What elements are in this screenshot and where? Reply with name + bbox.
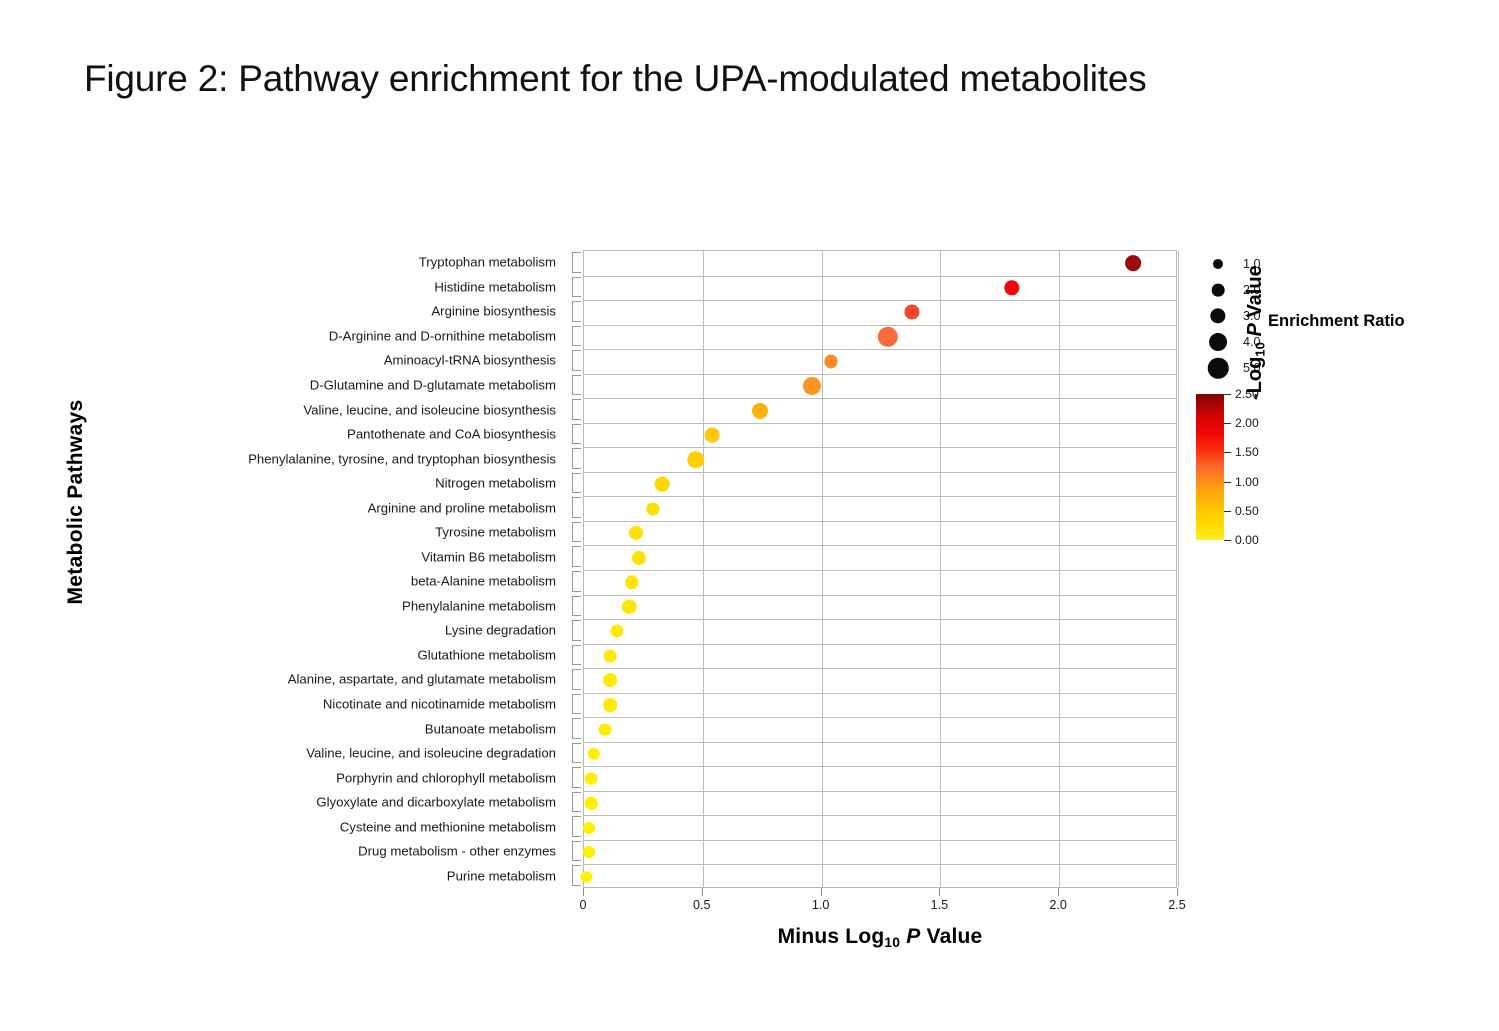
y-axis-tick-bracket (572, 375, 581, 396)
data-point-bubble (803, 377, 821, 395)
data-point-bubble (585, 772, 598, 785)
size-legend-dot (1212, 284, 1225, 297)
data-point-bubble (629, 526, 643, 540)
enrichment-ratio-legend-title: Enrichment Ratio (1268, 312, 1405, 331)
data-point-bubble (625, 576, 638, 589)
y-axis-tick-label: Lysine degradation (445, 623, 556, 638)
data-point-bubble (583, 846, 595, 858)
colorbar-title-subscript: 10 (1253, 342, 1268, 357)
colorbar-tick (1224, 511, 1231, 512)
size-legend-dot (1209, 333, 1227, 351)
colorbar-tick-label: 1.50 (1235, 445, 1259, 459)
x-axis: 00.51.01.52.02.5 (583, 888, 1177, 928)
y-axis-tick-bracket (572, 743, 581, 764)
page-title: Figure 2: Pathway enrichment for the UPA… (84, 58, 1147, 100)
y-axis-tick-bracket (572, 694, 581, 715)
y-axis-tick-label: Drug metabolism - other enzymes (358, 844, 556, 859)
y-axis-tick-bracket (572, 252, 581, 273)
gridline-horizontal (584, 521, 1176, 522)
y-axis-tick-bracket (572, 301, 581, 322)
data-point-bubble (611, 625, 624, 638)
y-axis-tick-bracket (572, 448, 581, 469)
x-axis-tick (1177, 888, 1178, 896)
gridline-horizontal (584, 644, 1176, 645)
y-axis-tick-label: Nicotinate and nicotinamide metabolism (323, 696, 556, 711)
gridline-vertical (1059, 251, 1060, 887)
data-point-bubble (1125, 255, 1141, 271)
data-point-bubble (1004, 280, 1019, 295)
data-point-bubble (599, 723, 612, 736)
data-point-bubble (646, 502, 659, 515)
data-point-bubble (587, 748, 599, 760)
x-axis-tick (939, 888, 940, 896)
colorbar-tick-label: 0.50 (1235, 504, 1259, 518)
y-axis-tick-label: Histidine metabolism (434, 279, 556, 294)
x-axis-tick (583, 888, 584, 896)
y-axis-tick-label: Glutathione metabolism (417, 647, 556, 662)
y-axis-tick-bracket (572, 865, 581, 886)
gridline-horizontal (584, 545, 1176, 546)
data-point-bubble (604, 649, 617, 662)
x-axis-title-italic: P (906, 925, 920, 948)
colorbar-title: -Log10 P Value (1244, 250, 1268, 400)
y-axis-tick-label: Alanine, aspartate, and glutamate metabo… (288, 672, 556, 687)
colorbar-title-suffix: Value (1244, 265, 1266, 323)
gridline-horizontal (584, 496, 1176, 497)
gridline-horizontal (584, 791, 1176, 792)
colorbar-tick (1224, 423, 1231, 424)
gridline-horizontal (584, 595, 1176, 596)
data-point-bubble (687, 451, 704, 468)
y-axis-tick-label: D-Arginine and D-ornithine metabolism (329, 328, 556, 343)
gridline-horizontal (584, 742, 1176, 743)
x-axis-tick (821, 888, 822, 896)
gridline-horizontal (584, 423, 1176, 424)
colorbar-title-italic: P (1244, 323, 1266, 336)
x-axis-tick-label: 0 (579, 898, 586, 912)
x-axis-tick-label: 2.0 (1049, 898, 1067, 912)
data-point-bubble (705, 428, 720, 443)
y-axis-tick-bracket (572, 620, 581, 641)
x-axis-tick-label: 1.5 (931, 898, 949, 912)
y-axis-tick-label: Phenylalanine, tyrosine, and tryptophan … (248, 451, 556, 466)
data-point-bubble (585, 797, 597, 809)
x-axis-title-subscript: 10 (884, 934, 900, 950)
y-axis-tick-bracket (572, 718, 581, 739)
y-axis-tick-bracket (572, 767, 581, 788)
colorbar-tick-label: 2.00 (1235, 416, 1259, 430)
gridline-horizontal (584, 398, 1176, 399)
colorbar-tick-label: 0.00 (1235, 533, 1259, 547)
y-axis-tick-label: Aminoacyl-tRNA biosynthesis (384, 353, 556, 368)
gridline-vertical (822, 251, 823, 887)
y-axis-tick-bracket (572, 350, 581, 371)
y-axis-tick-label: Porphyrin and chlorophyll metabolism (336, 770, 556, 785)
colorbar-tick (1224, 540, 1231, 541)
y-axis-tick-label: Tyrosine metabolism (435, 525, 556, 540)
y-axis-tick-bracket (572, 645, 581, 666)
x-axis-title-suffix: Value (920, 925, 982, 948)
y-axis-tick-bracket (572, 792, 581, 813)
colorbar-tick (1224, 482, 1231, 483)
gridline-horizontal (584, 276, 1176, 277)
y-axis-tick-label: Glyoxylate and dicarboxylate metabolism (316, 795, 556, 810)
data-point-bubble (655, 477, 670, 492)
y-axis-tick-label: Cysteine and methionine metabolism (340, 819, 556, 834)
gridline-horizontal (584, 570, 1176, 571)
gridline-horizontal (584, 668, 1176, 669)
y-axis-tick-label: Nitrogen metabolism (435, 476, 556, 491)
y-axis-tick-label: Butanoate metabolism (425, 721, 556, 736)
y-axis-label-list: Tryptophan metabolismHistidine metabolis… (130, 250, 570, 888)
size-legend-dot (1213, 259, 1223, 269)
y-axis-tick-label: Arginine biosynthesis (431, 304, 556, 319)
gridline-horizontal (584, 840, 1176, 841)
y-axis-tick-bracket (572, 277, 581, 298)
data-point-bubble (904, 305, 919, 320)
gridline-horizontal (584, 693, 1176, 694)
gridline-horizontal (584, 374, 1176, 375)
y-axis-tick-column (570, 250, 584, 888)
y-axis-tick-label: Arginine and proline metabolism (368, 500, 556, 515)
x-axis-tick-label: 0.5 (693, 898, 711, 912)
y-axis-tick-label: Tryptophan metabolism (419, 255, 556, 270)
gridline-horizontal (584, 447, 1176, 448)
gridline-horizontal (584, 717, 1176, 718)
x-axis-tick-label: 2.5 (1168, 898, 1186, 912)
x-axis-tick (702, 888, 703, 896)
data-point-bubble (603, 674, 617, 688)
y-axis-tick-label: Vitamin B6 metabolism (421, 549, 556, 564)
gridline-horizontal (584, 619, 1176, 620)
colorbar-tick-label: 1.00 (1235, 475, 1259, 489)
y-axis-tick-bracket (572, 669, 581, 690)
data-point-bubble (603, 698, 617, 712)
y-axis-tick-bracket (572, 497, 581, 518)
x-axis-title: Minus Log10 P Value (583, 925, 1177, 950)
colorbar-tick-label: 2.50 (1235, 387, 1259, 401)
gridline-horizontal (584, 864, 1176, 865)
y-axis-tick-label: beta-Alanine metabolism (411, 574, 556, 589)
size-legend-dot (1210, 308, 1225, 323)
data-point-bubble (581, 871, 592, 882)
data-point-bubble (752, 402, 768, 418)
y-axis-tick-bracket (572, 596, 581, 617)
y-axis-tick-bracket (572, 399, 581, 420)
y-axis-tick-bracket (572, 816, 581, 837)
x-axis-tick (1058, 888, 1059, 896)
y-axis-tick-label: Pantothenate and CoA biosynthesis (347, 427, 556, 442)
data-point-bubble (622, 600, 636, 614)
size-legend-dot (1208, 358, 1229, 379)
colorbar-tick (1224, 394, 1231, 395)
y-axis-tick-bracket (572, 424, 581, 445)
data-point-bubble (825, 355, 838, 368)
gridline-vertical (1178, 251, 1179, 887)
y-axis-tick-label: Valine, leucine, and isoleucine biosynth… (303, 402, 556, 417)
y-axis-tick-label: Valine, leucine, and isoleucine degradat… (306, 746, 556, 761)
y-axis-title: Metabolic Pathways (64, 392, 88, 612)
y-axis-tick-label: Purine metabolism (447, 868, 556, 883)
gridline-horizontal (584, 325, 1176, 326)
y-axis-tick-bracket (572, 326, 581, 347)
y-axis-tick-label: D-Glutamine and D-glutamate metabolism (310, 377, 556, 392)
gridline-vertical (703, 251, 704, 887)
y-axis-tick-bracket (572, 571, 581, 592)
x-axis-tick-label: 1.0 (812, 898, 830, 912)
scatter-plot-area (583, 250, 1177, 888)
y-axis-tick-bracket (572, 841, 581, 862)
data-point-bubble (583, 822, 595, 834)
gridline-horizontal (584, 766, 1176, 767)
y-axis-tick-bracket (572, 546, 581, 567)
x-axis-title-prefix: Minus Log (778, 925, 885, 948)
gridline-horizontal (584, 300, 1176, 301)
y-axis-tick-label: Phenylalanine metabolism (402, 598, 556, 613)
y-axis-tick-bracket (572, 522, 581, 543)
gridline-horizontal (584, 349, 1176, 350)
data-point-bubble (878, 327, 898, 347)
colorbar-tick (1224, 452, 1231, 453)
data-point-bubble (632, 551, 646, 565)
gridline-horizontal (584, 472, 1176, 473)
y-axis-tick-bracket (572, 473, 581, 494)
color-scale-bar (1196, 394, 1224, 540)
gridline-horizontal (584, 815, 1176, 816)
gridline-vertical (940, 251, 941, 887)
